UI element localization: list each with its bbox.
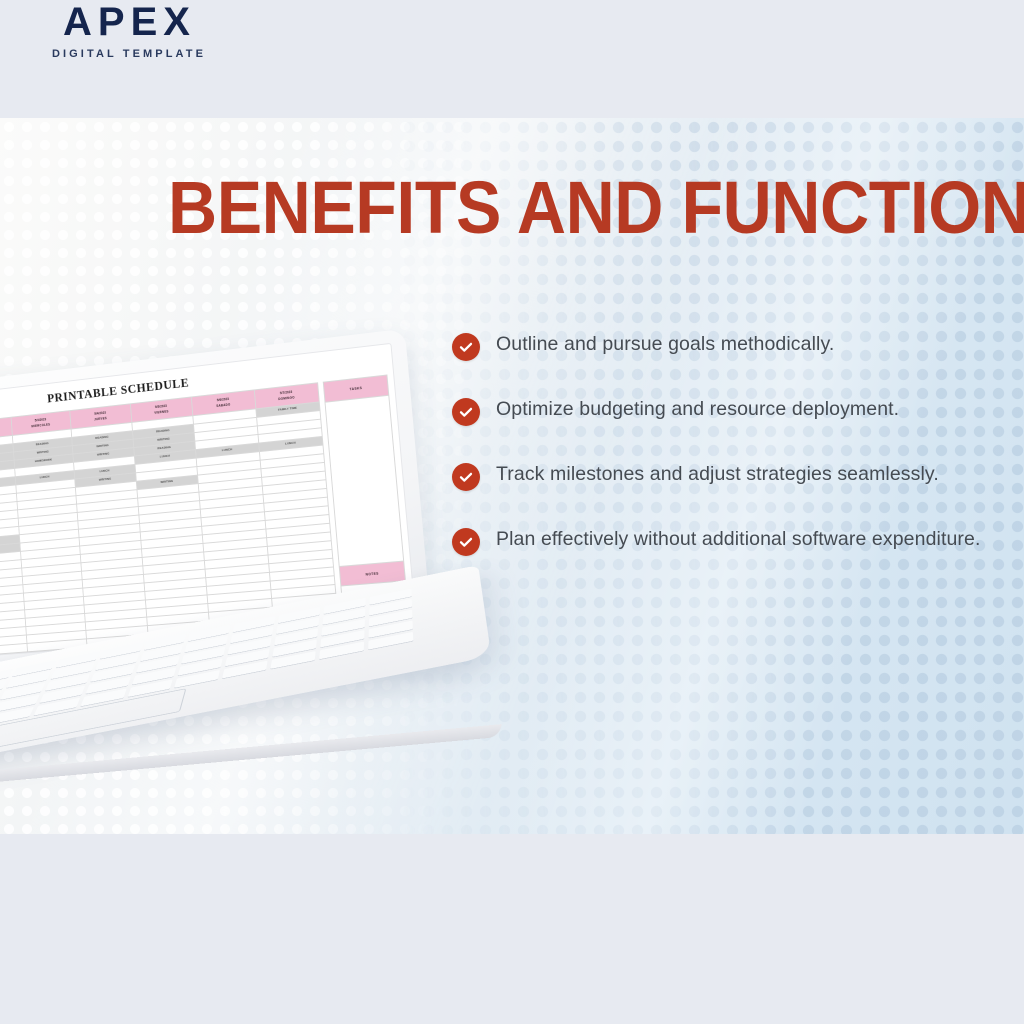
check-circle-icon (452, 463, 480, 491)
benefit-text: Track milestones and adjust strategies s… (496, 462, 939, 488)
list-item: Outline and pursue goals methodically. (452, 332, 1020, 361)
check-circle-icon (452, 528, 480, 556)
bottom-band (0, 833, 1024, 1024)
list-item: Track milestones and adjust strategies s… (452, 462, 1020, 491)
benefits-list: Outline and pursue goals methodically. O… (452, 332, 1020, 556)
benefit-text: Plan effectively without additional soft… (496, 527, 980, 553)
side-panel-body (325, 396, 405, 567)
brand-tagline: DIGITAL TEMPLATE (22, 48, 232, 60)
poster-canvas: BENEFITS AND FUNCTIONS Outline and pursu… (0, 0, 1024, 1024)
main-card: BENEFITS AND FUNCTIONS Outline and pursu… (0, 118, 1024, 834)
check-circle-icon (452, 398, 480, 426)
benefit-text: Optimize budgeting and resource deployme… (496, 397, 899, 423)
brand-logo: APEX DIGITAL TEMPLATE (22, 0, 232, 60)
empty-cell (0, 643, 27, 656)
page-title: BENEFITS AND FUNCTIONS (168, 171, 1024, 245)
list-item: Optimize budgeting and resource deployme… (452, 397, 1020, 426)
benefit-text: Outline and pursue goals methodically. (496, 332, 834, 358)
list-item: Plan effectively without additional soft… (452, 527, 1020, 556)
check-circle-icon (452, 333, 480, 361)
brand-name: APEX (22, 2, 232, 42)
